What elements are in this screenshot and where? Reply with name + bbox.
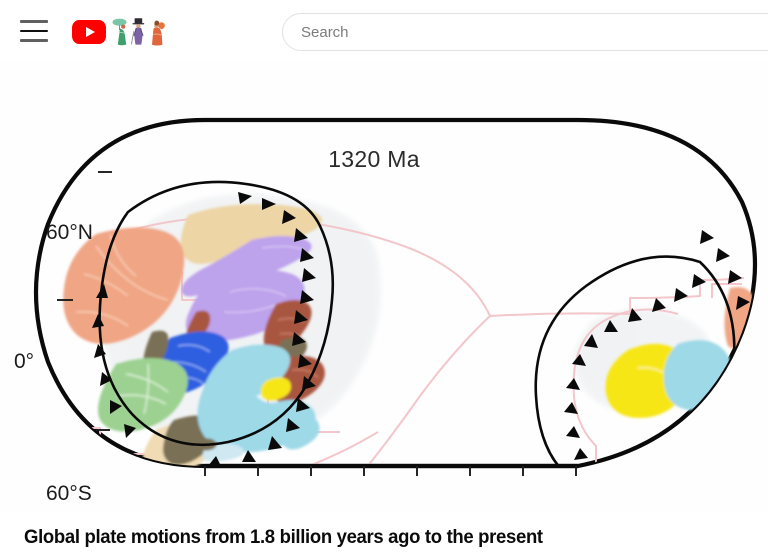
y-axis-label-60n: 60°N xyxy=(46,221,93,245)
plate-tectonics-map xyxy=(0,62,768,512)
y-axis-label-60s: 60°S xyxy=(46,482,92,506)
video-player-frame[interactable]: 1320 Ma 60°N 0° 60°S 120°W 0° 120°E xyxy=(0,62,768,512)
youtube-logo-icon[interactable] xyxy=(72,20,106,44)
hamburger-line-top xyxy=(20,20,48,23)
play-triangle-icon xyxy=(86,27,95,37)
search-input[interactable] xyxy=(282,13,768,51)
hamburger-menu-icon[interactable] xyxy=(20,20,48,42)
youtube-page: 1320 Ma 60°N 0° 60°S 120°W 0° 120°E Glob… xyxy=(0,0,768,560)
hamburger-line-middle xyxy=(20,30,48,33)
youtube-header xyxy=(0,0,768,62)
hamburger-line-bottom xyxy=(20,39,48,42)
video-title[interactable]: Global plate motions from 1.8 billion ye… xyxy=(24,526,543,549)
youtube-brand[interactable] xyxy=(72,18,169,46)
geologic-time-label: 1320 Ma xyxy=(0,146,758,173)
y-axis-label-0: 0° xyxy=(14,350,34,374)
victorian-figures-doodle-icon[interactable] xyxy=(107,17,169,47)
search-container[interactable] xyxy=(282,13,768,51)
